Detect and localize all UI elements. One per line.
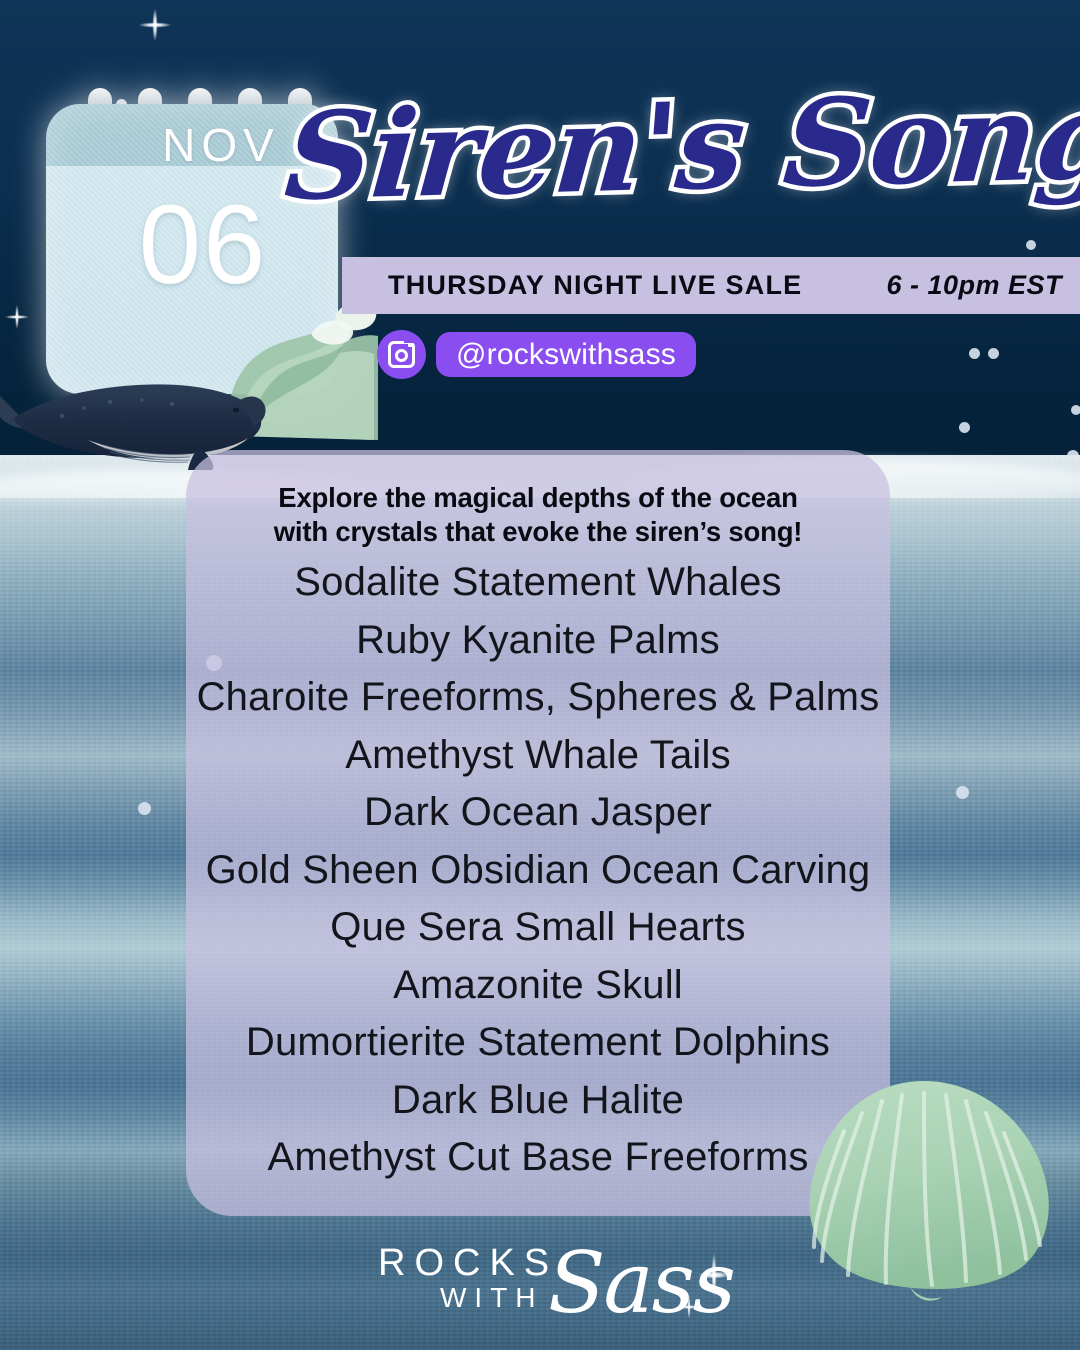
instagram-camera-glyph [388, 341, 415, 368]
instagram-handle-row[interactable]: @rockswithsass [377, 330, 696, 379]
card-headline-line1: Explore the magical depths of the ocean [186, 481, 890, 515]
title-text: Siren's Song [281, 76, 1080, 218]
event-banner: THURSDAY NIGHT LIVE SALE 6 - 10pm EST [342, 257, 1080, 314]
list-item: Amethyst Whale Tails [106, 727, 970, 785]
list-item: Charoite Freeforms, Spheres & Palms [106, 669, 970, 727]
event-name: THURSDAY NIGHT LIVE SALE [388, 270, 802, 301]
list-item: Amazonite Skull [106, 957, 970, 1015]
details-card: Explore the magical depths of the ocean … [186, 450, 890, 1216]
list-item: Sodalite Statement Whales [106, 554, 970, 612]
sparkle-star-icon [0, 300, 34, 334]
event-time: 6 - 10pm EST [886, 270, 1062, 301]
star-dot-icon [1071, 405, 1080, 415]
list-item: Dumortierite Statement Dolphins [106, 1014, 970, 1072]
star-dot-icon [988, 348, 999, 359]
card-headline: Explore the magical depths of the ocean … [186, 481, 890, 548]
instagram-handle[interactable]: @rockswithsass [436, 332, 696, 377]
poster-canvas: NOV 06 [0, 0, 1080, 1350]
logo-rocks-text: ROCKS [378, 1242, 558, 1285]
star-dot-icon [1026, 240, 1036, 250]
seashell-illustration [790, 1075, 1058, 1305]
sparkle-star-icon [676, 1290, 702, 1324]
logo-with-text: WITH [440, 1282, 544, 1314]
list-item: Que Sera Small Hearts [106, 899, 970, 957]
list-item: Gold Sheen Obsidian Ocean Carving [106, 842, 970, 900]
instagram-icon[interactable] [377, 330, 426, 379]
list-item: Dark Ocean Jasper [106, 784, 970, 842]
brand-logo: ROCKS WITH Sass [370, 1238, 730, 1334]
star-dot-icon [969, 348, 980, 359]
poster-title: Siren's Song [352, 62, 1052, 232]
card-headline-line2: with crystals that evoke the siren’s son… [186, 515, 890, 549]
sparkle-star-icon [132, 2, 178, 48]
list-item: Ruby Kyanite Palms [106, 612, 970, 670]
star-dot-icon [959, 422, 970, 433]
